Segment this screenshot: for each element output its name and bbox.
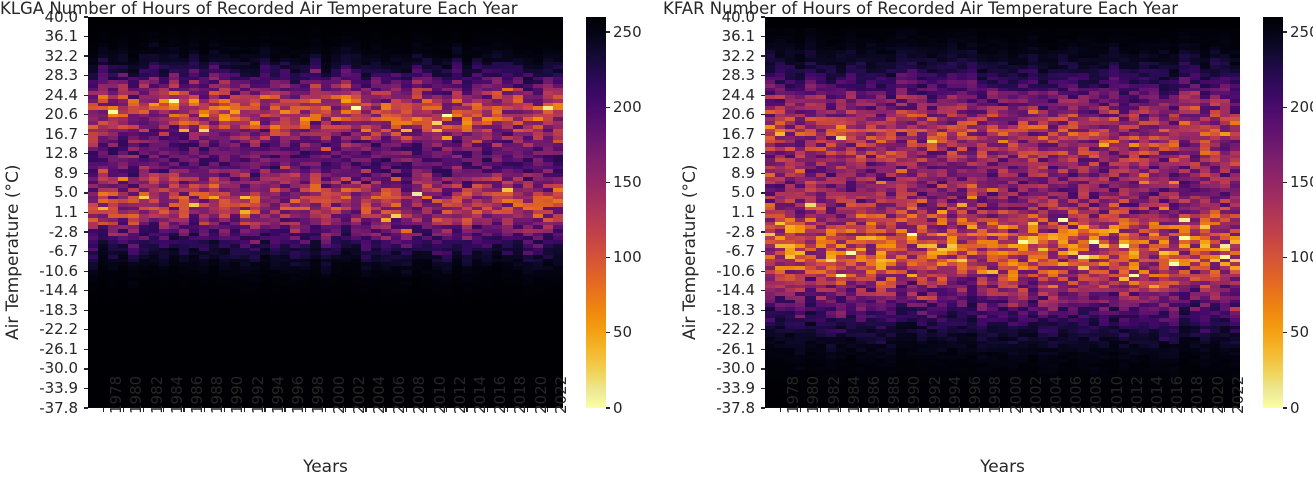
heatmap-year-column [310,17,320,408]
heatmap-cells-klga [88,17,563,408]
heatmap-year-column [290,17,300,408]
heatmap-year-column [371,17,381,408]
y-axis-tick-label: 28.3 [0,68,78,83]
heatmap-year-column [381,17,391,408]
heatmap-year-column [513,17,523,408]
heatmap-year-column [391,17,401,408]
y-axis-tick-label: 20.6 [0,107,78,122]
heatmap-year-column [118,17,128,408]
heatmap-year-column [482,17,492,408]
heatmap-year-column [452,17,462,408]
heatmap-year-column [98,17,108,408]
heatmap-year-column [88,17,98,408]
heatmap-year-column [472,17,482,408]
heatmap-year-column [270,17,280,408]
heatmap-year-column [401,17,411,408]
panel-klga: KLGA Number of Hours of Recorded Air Tem… [0,0,657,484]
y-axis-tick-label: 24.4 [0,88,78,103]
heatmap-plot-area-klga [88,17,563,408]
heatmap-year-column [321,17,331,408]
heatmap-year-column [422,17,432,408]
y-axis-tick [84,36,88,37]
heatmap-year-column [280,17,290,408]
heatmap-year-column [300,17,310,408]
y-axis-tick-label: 40.0 [0,10,78,25]
heatmap-year-column [432,17,442,408]
y-axis-tick [84,16,88,17]
heatmap-year-column [331,17,341,408]
y-axis-tick [84,55,88,56]
heatmap-year-column [523,17,533,408]
heatmap-year-column [159,17,169,408]
heatmap-year-column [179,17,189,408]
heatmap-year-column [442,17,452,408]
heatmap-year-column [361,17,371,408]
heatmap-year-column [230,17,240,408]
heatmap-year-column [199,17,209,408]
heatmap-year-column [533,17,543,408]
heatmap-year-column [502,17,512,408]
heatmap-year-column [250,17,260,408]
y-axis-tick [84,75,88,76]
heatmap-year-column [553,17,563,408]
y-axis-tick-label: 36.1 [0,29,78,44]
heatmap-year-column [128,17,138,408]
heatmap-year-column [543,17,553,408]
heatmap-year-column [139,17,149,408]
heatmap-year-column [341,17,351,408]
heatmap-year-column [219,17,229,408]
heatmap-year-column [260,17,270,408]
heatmap-year-column [351,17,361,408]
panel-title-klga: KLGA Number of Hours of Recorded Air Tem… [0,0,657,18]
heatmap-year-column [412,17,422,408]
heatmap-year-column [492,17,502,408]
heatmap-year-column [189,17,199,408]
heatmap-year-column [462,17,472,408]
heatmap-year-column [108,17,118,408]
y-axis-tick [84,95,88,96]
y-axis-tick-label: 32.2 [0,49,78,64]
heatmap-year-column [169,17,179,408]
y-axis-tick [84,114,88,115]
heatmap-year-column [240,17,250,408]
heatmap-cell [88,404,98,408]
heatmap-figure: KLGA Number of Hours of Recorded Air Tem… [0,0,1313,484]
heatmap-year-column [209,17,219,408]
heatmap-year-column [149,17,159,408]
